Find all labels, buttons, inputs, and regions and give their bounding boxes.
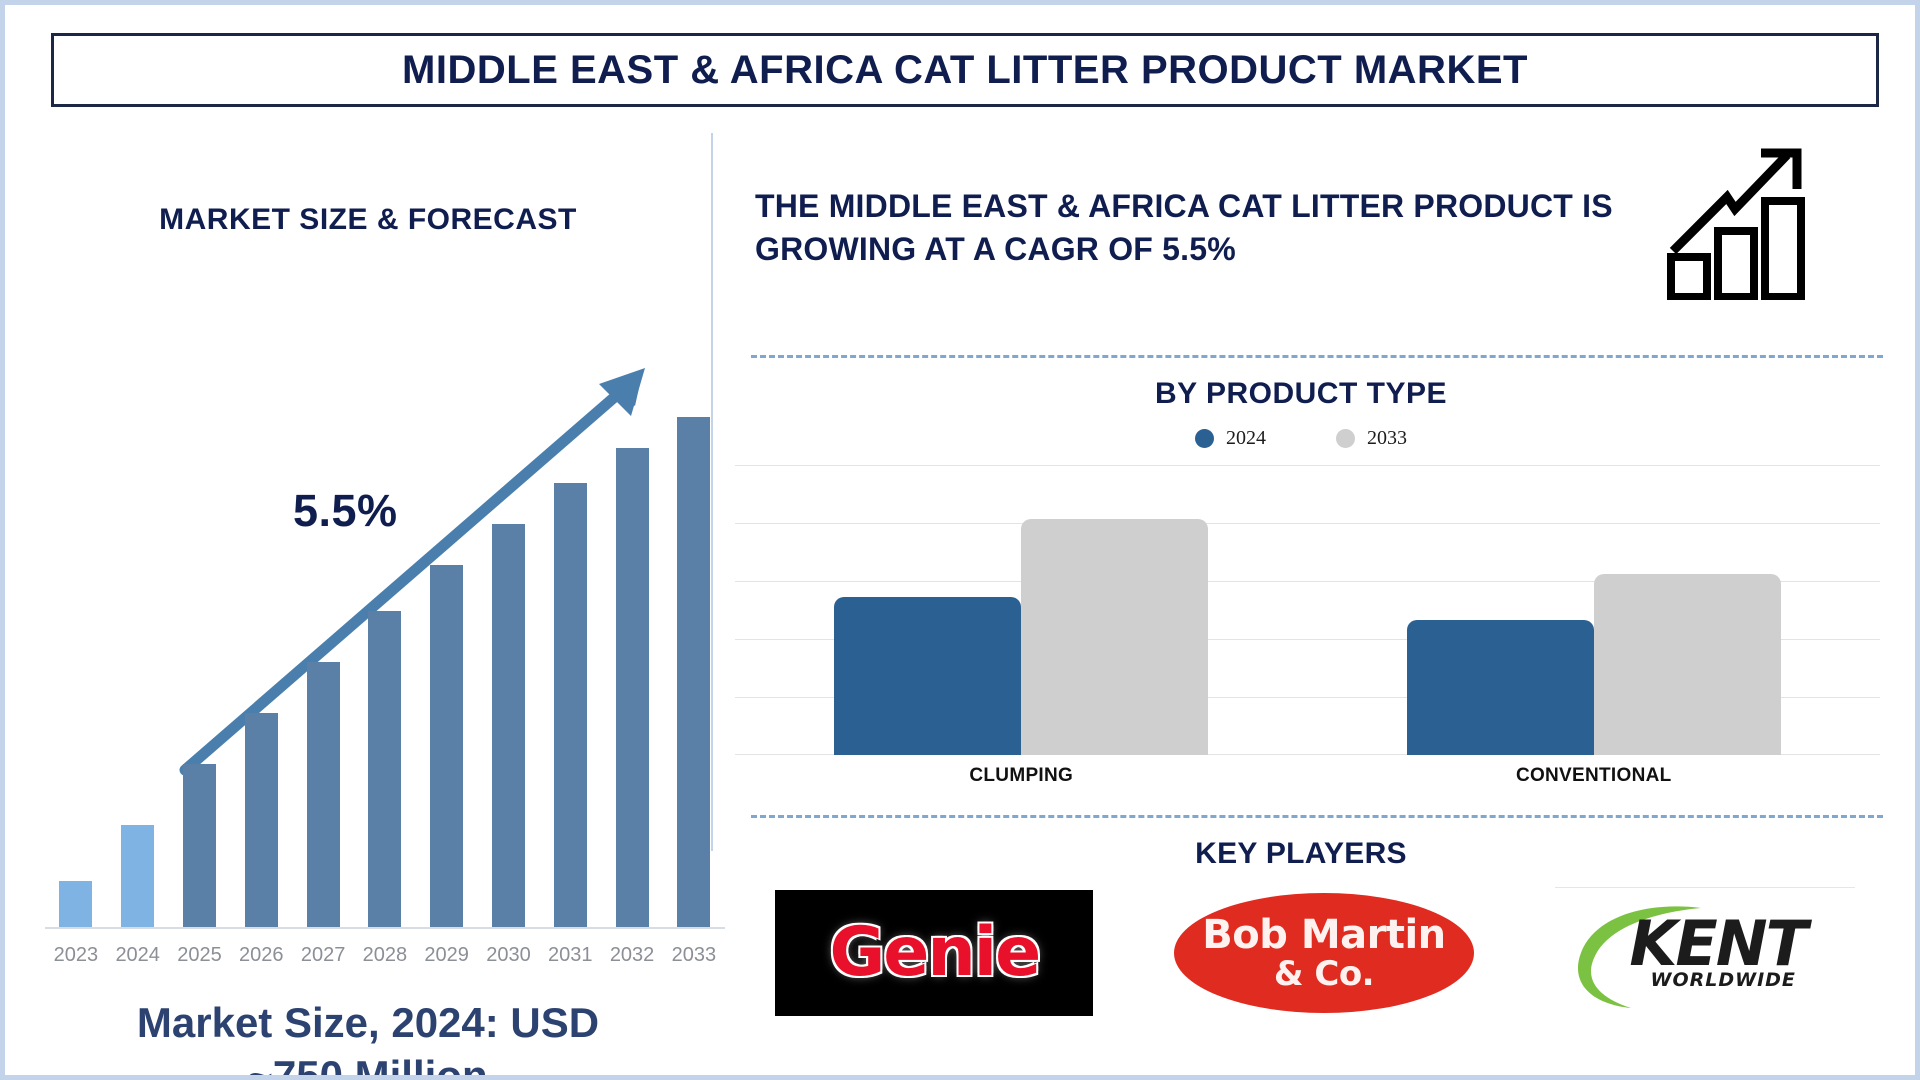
bar-2033 <box>677 417 710 927</box>
x-tick-label: 2027 <box>292 944 354 967</box>
product-type-labels: CLUMPING CONVENTIONAL <box>735 765 1880 787</box>
kent-logo-subtext: WORLDWIDE <box>1629 969 1806 991</box>
chart-legend: 2024 2033 <box>735 427 1867 450</box>
x-tick-label: 2030 <box>478 944 540 967</box>
kent-logo-text: KENT <box>1629 915 1806 974</box>
x-tick-label: 2029 <box>416 944 478 967</box>
bar-column <box>539 417 601 927</box>
bar-column <box>169 417 231 927</box>
key-players-logos: Genie Bob Martin & Co. KENT WORLDWIDE <box>735 887 1895 1018</box>
bar-2025 <box>183 764 216 927</box>
page-title: MIDDLE EAST & AFRICA CAT LITTER PRODUCT … <box>402 48 1528 93</box>
bar-column <box>416 417 478 927</box>
by-product-type-bar-chart: CLUMPING CONVENTIONAL <box>735 465 1880 755</box>
infographic-page: MIDDLE EAST & AFRICA CAT LITTER PRODUCT … <box>0 0 1920 1080</box>
x-tick-label: 2023 <box>45 944 107 967</box>
x-axis-tick-labels: 2023 2024 2025 2026 2027 2028 2029 2030 … <box>45 944 725 967</box>
bob-martin-logo-plate: Bob Martin & Co. <box>1174 893 1474 1013</box>
bar-2023 <box>59 881 92 927</box>
key-players-heading: KEY PLAYERS <box>735 837 1867 871</box>
logo-bob-martin[interactable]: Bob Martin & Co. <box>1174 893 1474 1013</box>
genie-logo-plate: Genie <box>775 890 1093 1016</box>
legend-label: 2033 <box>1367 427 1407 450</box>
market-size-forecast-heading: MARKET SIZE & FORECAST <box>23 203 713 237</box>
bar-2028 <box>368 611 401 927</box>
legend-dot-icon <box>1195 429 1214 448</box>
legend-label: 2024 <box>1226 427 1266 450</box>
legend-item-2033: 2033 <box>1336 427 1407 450</box>
bar-column <box>45 417 107 927</box>
bar-clumping-2033 <box>1021 519 1208 755</box>
market-size-line-1: Market Size, 2024: USD <box>137 999 599 1046</box>
bar-clumping-2024 <box>834 597 1021 755</box>
cagr-statement: THE MIDDLE EAST & AFRICA CAT LITTER PROD… <box>755 185 1655 271</box>
growth-bar-chart-arrow-icon <box>1665 135 1815 300</box>
bar-2032 <box>616 448 649 927</box>
logo-kent-worldwide[interactable]: KENT WORLDWIDE <box>1555 887 1855 1018</box>
genie-logo-text: Genie <box>829 913 1039 992</box>
bar-conventional-2033 <box>1594 574 1781 755</box>
bar-2030 <box>492 524 525 927</box>
right-panel: THE MIDDLE EAST & AFRICA CAT LITTER PROD… <box>735 125 1895 1075</box>
bar-column <box>292 417 354 927</box>
bar-column <box>601 417 663 927</box>
bob-martin-logo-line-1: Bob Martin <box>1202 915 1445 955</box>
market-size-bar-chart: 2023 2024 2025 2026 2027 2028 2029 2030 … <box>45 395 725 975</box>
legend-item-2024: 2024 <box>1195 427 1266 450</box>
by-product-type-heading: BY PRODUCT TYPE <box>735 377 1867 411</box>
bar-group-conventional <box>1308 465 1881 755</box>
x-tick-label: 2026 <box>230 944 292 967</box>
dashed-divider-bottom <box>751 815 1883 818</box>
bob-martin-logo-line-2: & Co. <box>1274 957 1374 991</box>
bar-group-clumping <box>735 465 1308 755</box>
x-label-conventional: CONVENTIONAL <box>1308 765 1881 787</box>
x-axis-line <box>45 927 725 929</box>
bar-column <box>107 417 169 927</box>
x-tick-label: 2024 <box>107 944 169 967</box>
bar-column <box>663 417 725 927</box>
x-tick-label: 2028 <box>354 944 416 967</box>
market-size-forecast-panel: MARKET SIZE & FORECAST 5.5% <box>23 125 713 1065</box>
bar-2026 <box>245 713 278 927</box>
x-tick-label: 2031 <box>539 944 601 967</box>
kent-logo-plate: KENT WORLDWIDE <box>1555 887 1855 1018</box>
vertical-divider <box>711 133 713 851</box>
legend-dot-icon <box>1336 429 1355 448</box>
bar-column <box>478 417 540 927</box>
dashed-divider-top <box>751 355 1883 358</box>
market-size-bars <box>45 417 725 927</box>
x-tick-label: 2032 <box>601 944 663 967</box>
logo-genie[interactable]: Genie <box>775 890 1093 1016</box>
bar-column <box>354 417 416 927</box>
bar-2024 <box>121 825 154 927</box>
bar-column <box>230 417 292 927</box>
bar-2029 <box>430 565 463 927</box>
kent-logo-textblock: KENT WORLDWIDE <box>1603 915 1806 992</box>
title-banner: MIDDLE EAST & AFRICA CAT LITTER PRODUCT … <box>51 33 1879 107</box>
bar-2031 <box>554 483 587 927</box>
bar-conventional-2024 <box>1407 620 1594 755</box>
x-tick-label: 2033 <box>663 944 725 967</box>
x-tick-label: 2025 <box>169 944 231 967</box>
x-label-clumping: CLUMPING <box>735 765 1308 787</box>
market-size-value: Market Size, 2024: USD ~750 Million <box>23 997 713 1080</box>
chart-plot-area <box>735 465 1880 755</box>
bar-2027 <box>307 662 340 927</box>
market-size-line-2: ~750 Million <box>248 1052 487 1080</box>
